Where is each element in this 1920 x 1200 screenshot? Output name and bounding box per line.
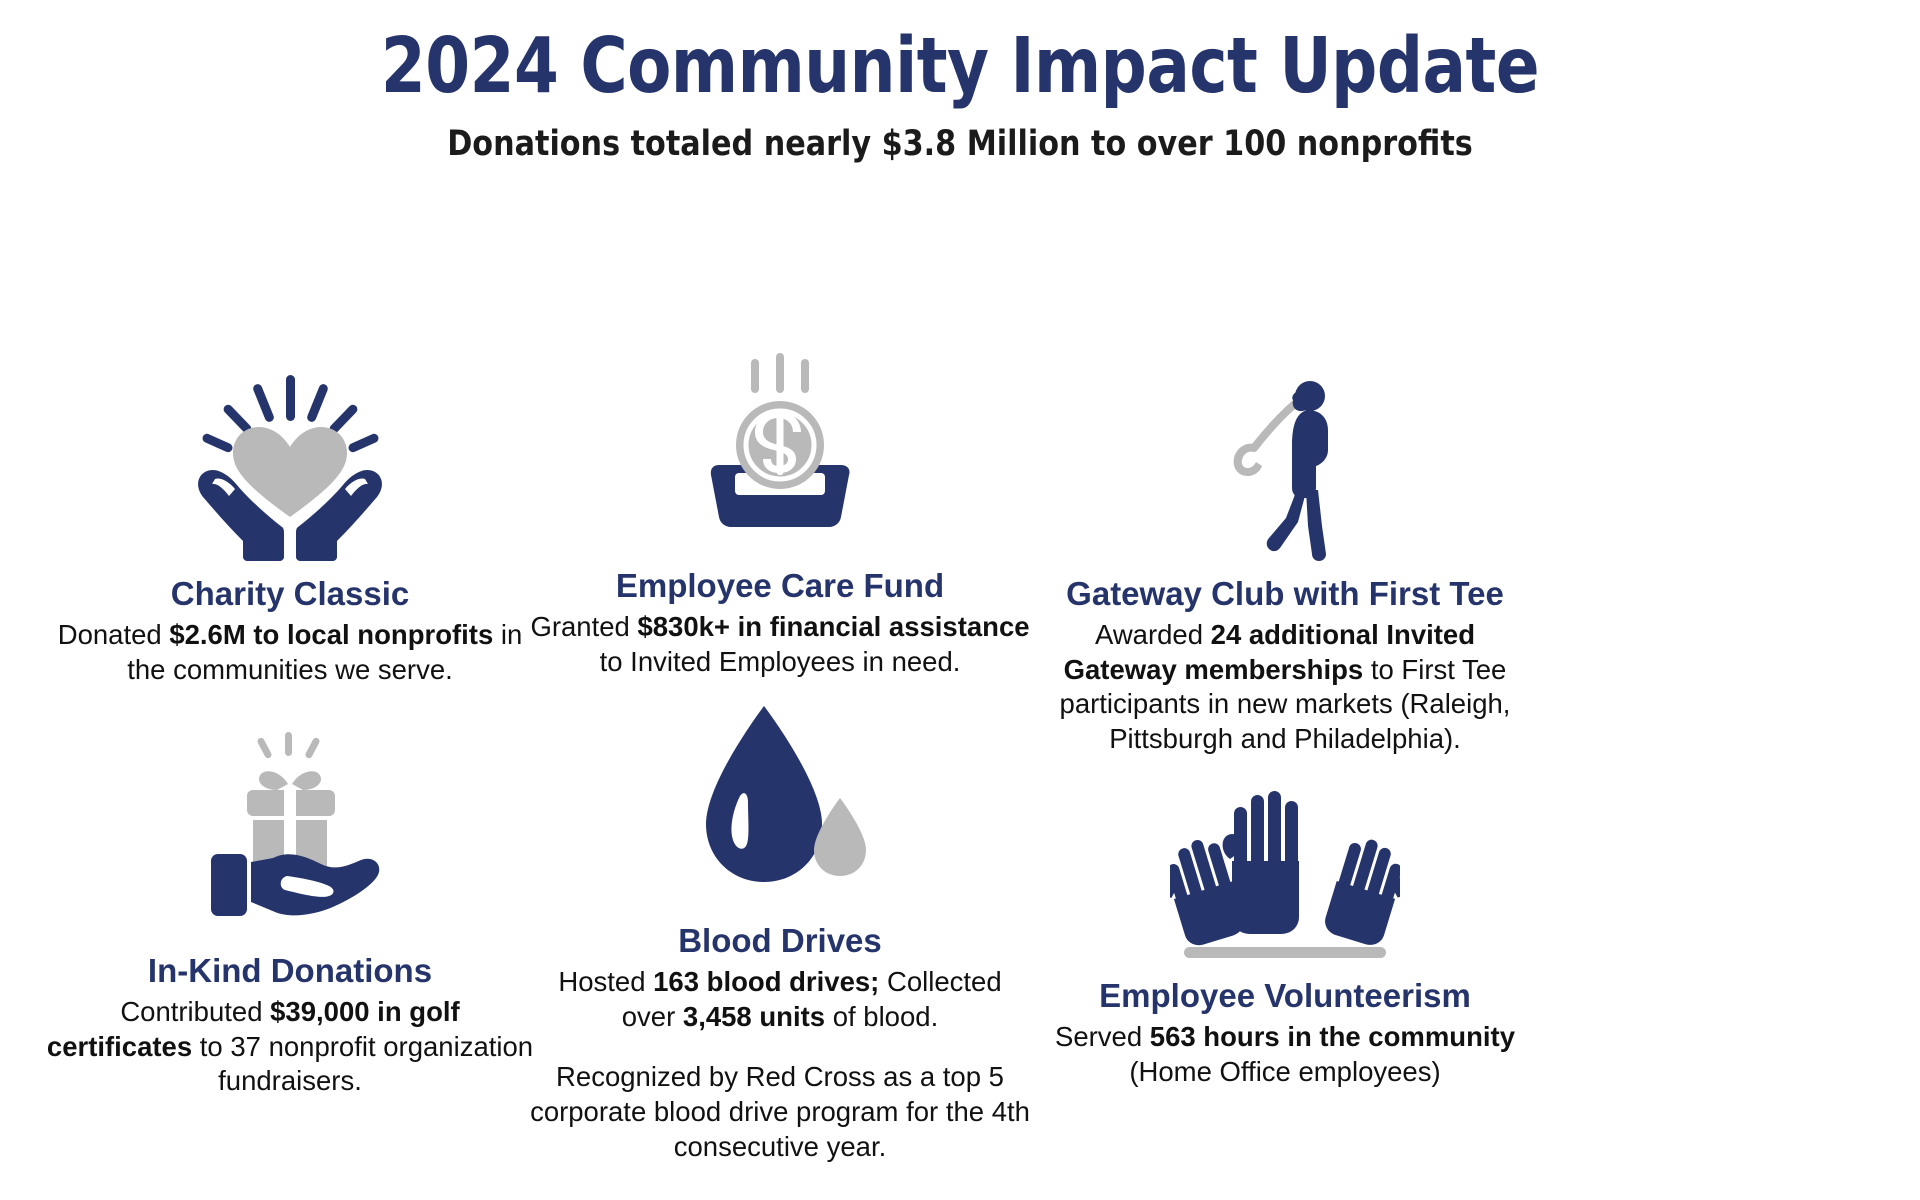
card-in-kind-donations: In-Kind Donations Contributed $39,000 in…: [45, 723, 535, 1099]
card-employee-volunteerism: Employee Volunteerism Served 563 hours i…: [1035, 783, 1535, 1089]
raised-hands-icon: [1170, 791, 1400, 963]
golfer-icon: [1210, 376, 1360, 561]
header: 2024 Community Impact Update Donations t…: [0, 0, 1920, 163]
icon-container: [530, 348, 1030, 553]
card-gateway-club-first-tee: Gateway Club with First Tee Awarded 24 a…: [1035, 361, 1535, 757]
money-donation-box-icon: [675, 353, 885, 553]
card-employee-care-fund: Employee Care Fund Granted $830k+ in fin…: [530, 348, 1030, 679]
icon-container: [530, 693, 1030, 908]
icon-container: [45, 361, 535, 561]
card-title: Gateway Club with First Tee: [1035, 575, 1535, 613]
page-title: 2024 Community Impact Update: [67, 28, 1853, 107]
heart-in-hands-icon: [185, 375, 395, 561]
card-body-secondary: Recognized by Red Cross as a top 5 corpo…: [530, 1060, 1030, 1164]
icon-container: [1035, 361, 1535, 561]
card-body: Contributed $39,000 in golf certificates…: [45, 995, 535, 1099]
blood-drop-icon: [680, 698, 880, 908]
card-title: Employee Volunteerism: [1035, 977, 1535, 1015]
infographic-page: 2024 Community Impact Update Donations t…: [0, 0, 1920, 1200]
card-body: Donated $2.6M to local nonprofits in the…: [45, 618, 535, 687]
icon-container: [1035, 783, 1535, 963]
card-body: Granted $830k+ in financial assistance t…: [530, 610, 1030, 679]
card-title: In-Kind Donations: [45, 952, 535, 990]
gift-in-hand-icon: [185, 732, 395, 938]
page-subtitle: Donations totaled nearly $3.8 Million to…: [38, 125, 1881, 164]
icon-container: [45, 723, 535, 938]
card-title: Blood Drives: [530, 922, 1030, 960]
card-blood-drives: Blood Drives Hosted 163 blood drives; Co…: [530, 693, 1030, 1164]
card-body: Hosted 163 blood drives; Collected over …: [530, 965, 1030, 1034]
card-title: Employee Care Fund: [530, 567, 1030, 605]
card-title: Charity Classic: [45, 575, 535, 613]
card-body: Served 563 hours in the community (Home …: [1035, 1020, 1535, 1089]
card-charity-classic: Charity Classic Donated $2.6M to local n…: [45, 361, 535, 687]
card-body: Awarded 24 additional Invited Gateway me…: [1035, 618, 1535, 757]
